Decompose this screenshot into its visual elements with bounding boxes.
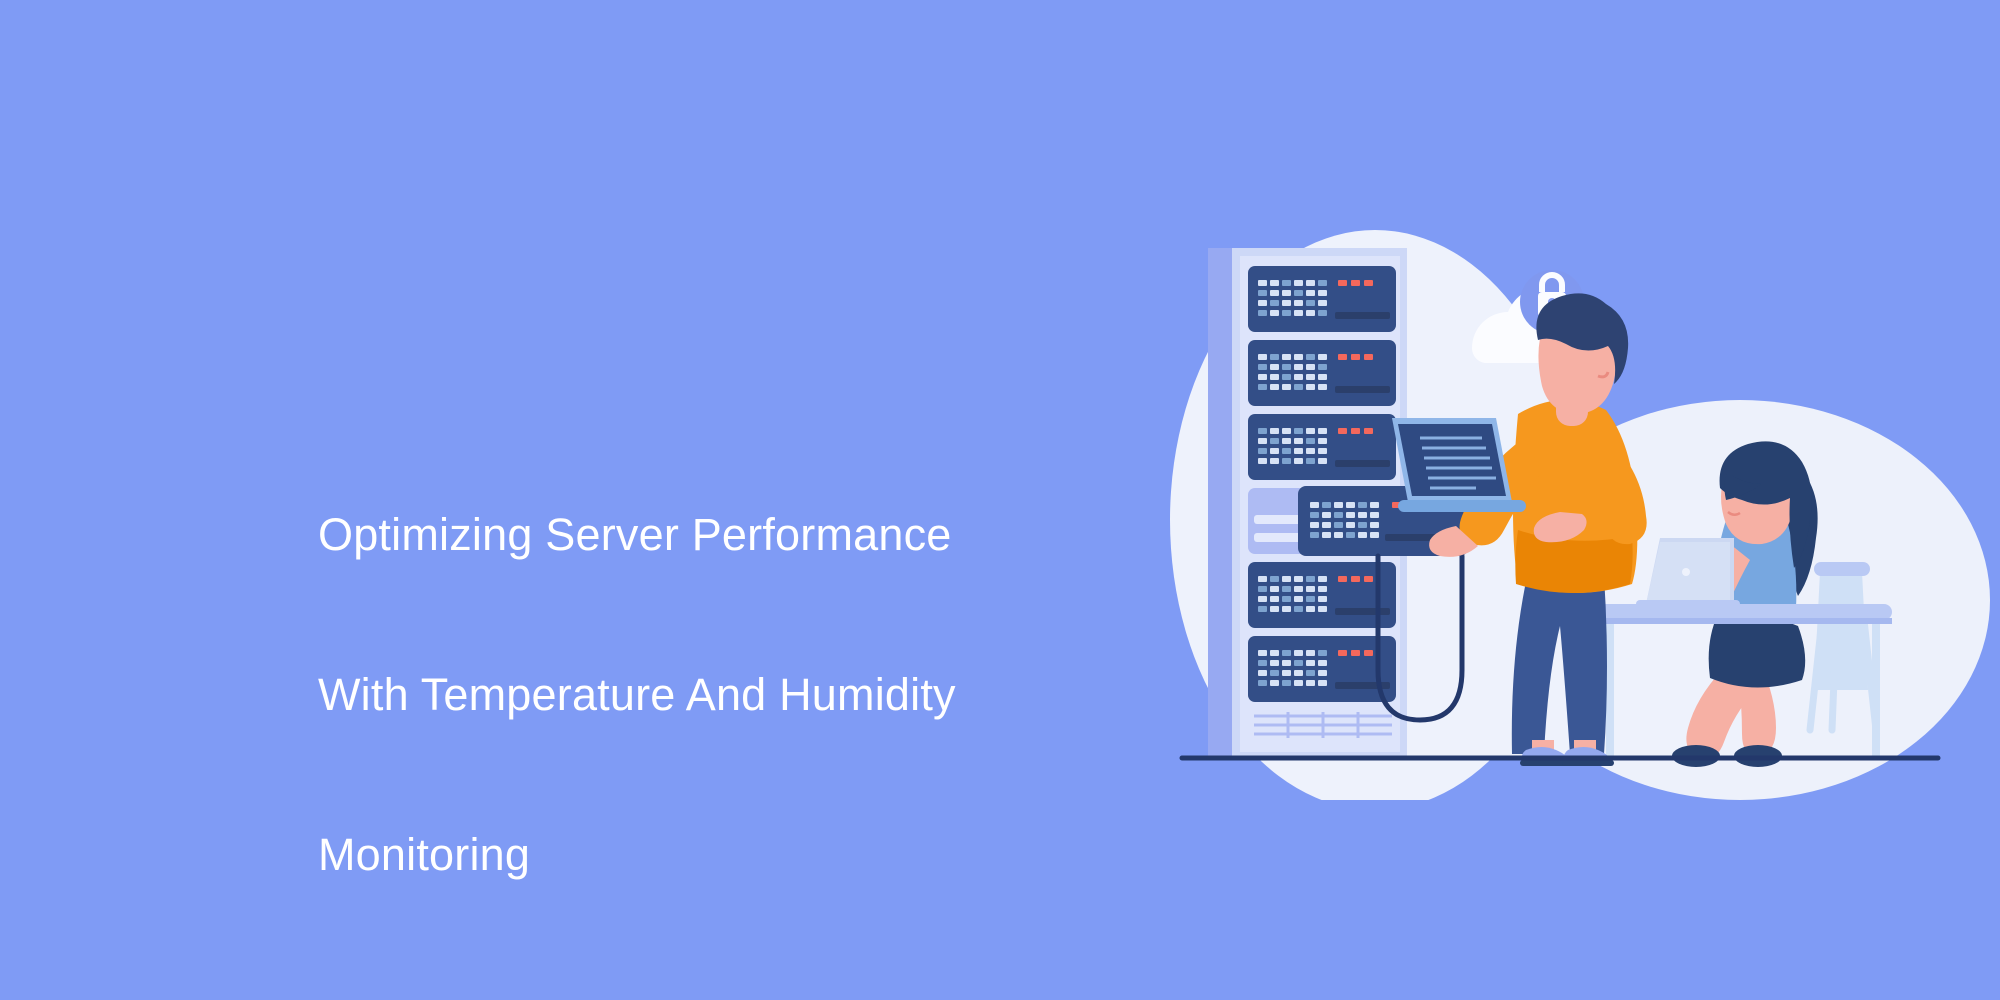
server-room-illustration (1120, 200, 2000, 800)
laptop-base (1398, 500, 1526, 512)
title-line-2: With Temperature And Humidity (318, 655, 1178, 735)
status-led (1338, 650, 1373, 656)
title-line-3: Monitoring (318, 815, 1178, 895)
page-title: Optimizing Server Performance With Tempe… (318, 415, 1178, 975)
laptop-base (1636, 600, 1740, 608)
title-line-1: Optimizing Server Performance (318, 495, 1178, 575)
status-led (1338, 576, 1373, 582)
banner: Optimizing Server Performance With Tempe… (0, 0, 2000, 1000)
rack-vent-grille (1254, 712, 1392, 738)
desk-edge (1588, 618, 1892, 624)
laptop-logo (1682, 568, 1690, 576)
server-unit[interactable] (1248, 414, 1396, 480)
server-unit[interactable] (1248, 636, 1396, 702)
server-unit[interactable] (1248, 340, 1396, 406)
rack-left-column (1208, 248, 1232, 760)
status-led (1338, 428, 1373, 434)
status-led (1338, 354, 1373, 360)
server-unit[interactable] (1248, 266, 1396, 332)
laptop-screen (1398, 424, 1506, 496)
desk-top (1588, 604, 1892, 620)
server-unit[interactable] (1248, 562, 1396, 628)
skirt (1709, 617, 1806, 687)
desk-leg (1606, 624, 1614, 758)
desk-leg (1872, 624, 1880, 758)
status-led (1338, 280, 1373, 286)
